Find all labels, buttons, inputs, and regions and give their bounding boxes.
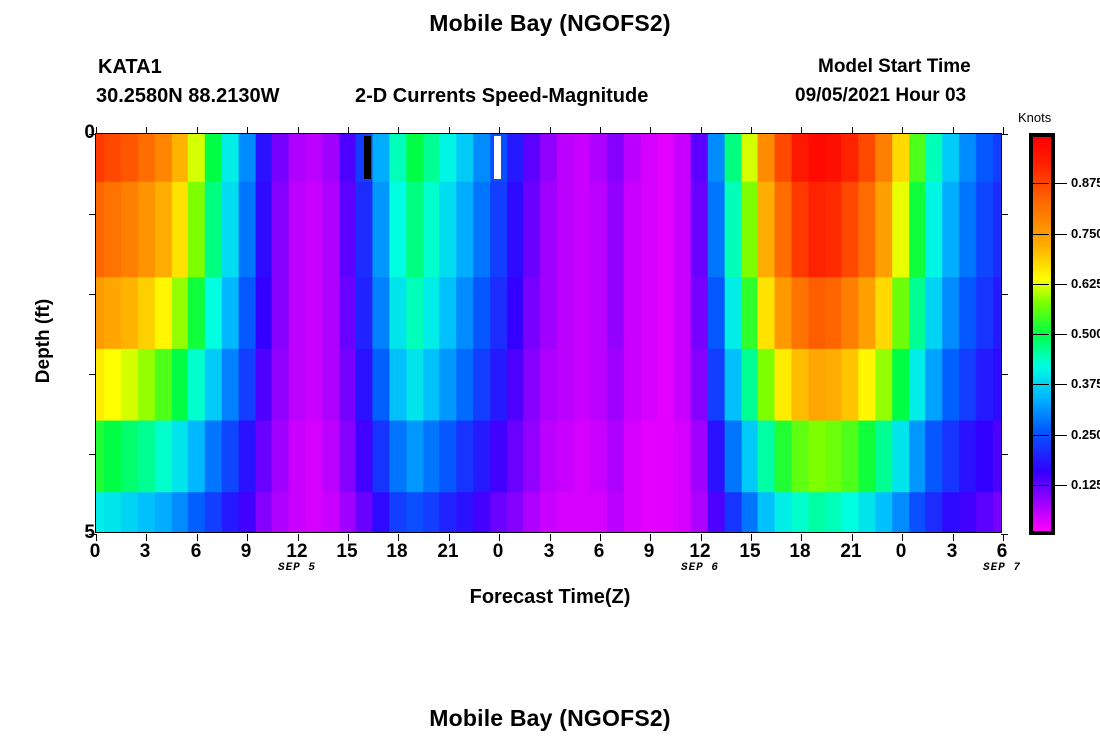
y-axis-tick bbox=[89, 374, 96, 375]
colorbar-tick-label: 0.250 bbox=[1071, 427, 1100, 442]
x-axis-tick bbox=[953, 534, 954, 541]
colorbar-tick-label: 0.375 bbox=[1071, 376, 1100, 391]
x-axis-tick bbox=[902, 534, 903, 541]
x-axis-tick-top bbox=[550, 127, 551, 134]
black-marker bbox=[364, 136, 371, 179]
x-axis-tick-top bbox=[146, 127, 147, 134]
colorbar-tick-inner bbox=[1031, 183, 1049, 184]
x-axis-tick bbox=[801, 534, 802, 541]
plot-subtitle: 2-D Currents Speed-Magnitude bbox=[355, 85, 648, 108]
bottom-title: Mobile Bay (NGOFS2) bbox=[0, 705, 1100, 732]
x-axis-tick-top bbox=[852, 127, 853, 134]
x-tick-label: 21 bbox=[831, 541, 871, 563]
x-axis-tick bbox=[146, 534, 147, 541]
x-axis-tick bbox=[701, 534, 702, 541]
y-axis-title: Depth (ft) bbox=[33, 281, 55, 401]
x-axis-tick bbox=[398, 534, 399, 541]
x-axis-tick bbox=[499, 534, 500, 541]
y-axis-tick-right bbox=[1001, 374, 1008, 375]
x-axis-tick bbox=[600, 534, 601, 541]
x-axis-tick bbox=[449, 534, 450, 541]
colorbar-tick bbox=[1055, 284, 1067, 285]
y-axis-tick-right bbox=[1001, 294, 1008, 295]
page-title: Mobile Bay (NGOFS2) bbox=[0, 10, 1100, 37]
x-axis-tick-top bbox=[348, 127, 349, 134]
x-tick-label: 9 bbox=[629, 541, 669, 563]
x-axis-tick-top bbox=[449, 127, 450, 134]
x-axis-tick bbox=[650, 534, 651, 541]
y-axis-tick-right bbox=[1001, 134, 1008, 135]
x-tick-label: 6 bbox=[579, 541, 619, 563]
colorbar-tick bbox=[1055, 384, 1067, 385]
y-axis-tick bbox=[89, 214, 96, 215]
station-name: KATA1 bbox=[98, 56, 162, 79]
x-axis-tick-top bbox=[197, 127, 198, 134]
x-axis-tick-top bbox=[298, 127, 299, 134]
colorbar: 0.8750.7500.6250.5000.3750.2500.125 bbox=[1029, 133, 1055, 535]
colorbar-tick bbox=[1055, 183, 1067, 184]
x-axis-date-label: SEP 7 bbox=[942, 562, 1062, 574]
colorbar-tick bbox=[1055, 234, 1067, 235]
x-tick-label: 6 bbox=[982, 541, 1022, 563]
x-tick-label: 0 bbox=[75, 541, 115, 563]
x-axis-tick bbox=[852, 534, 853, 541]
colorbar-tick-inner bbox=[1031, 284, 1049, 285]
x-tick-label: 15 bbox=[730, 541, 770, 563]
x-tick-label: 18 bbox=[780, 541, 820, 563]
x-tick-label: 3 bbox=[125, 541, 165, 563]
x-axis-tick-top bbox=[902, 127, 903, 134]
x-tick-label: 3 bbox=[529, 541, 569, 563]
x-tick-label: 12 bbox=[680, 541, 720, 563]
x-tick-label: 6 bbox=[176, 541, 216, 563]
x-axis-tick-top bbox=[1003, 127, 1004, 134]
heatmap-canvas bbox=[96, 134, 1001, 532]
x-axis-tick bbox=[348, 534, 349, 541]
y-axis-tick-right bbox=[1001, 534, 1008, 535]
x-axis-tick bbox=[298, 534, 299, 541]
y-axis-tick-right bbox=[1001, 214, 1008, 215]
colorbar-tick bbox=[1055, 485, 1067, 486]
model-start-time-value: 09/05/2021 Hour 03 bbox=[795, 85, 966, 107]
x-axis-tick-top bbox=[650, 127, 651, 134]
colorbar-tick-inner bbox=[1031, 234, 1049, 235]
colorbar-tick bbox=[1055, 435, 1067, 436]
x-axis-tick-top bbox=[398, 127, 399, 134]
colorbar-tick-label: 0.875 bbox=[1071, 175, 1100, 190]
x-axis-tick bbox=[751, 534, 752, 541]
colorbar-title: Knots bbox=[1018, 110, 1051, 125]
x-axis-tick bbox=[197, 534, 198, 541]
colorbar-tick bbox=[1055, 334, 1067, 335]
heatmap-plot-area bbox=[95, 133, 1002, 533]
x-tick-label: 3 bbox=[932, 541, 972, 563]
y-tick-label: 0 bbox=[65, 122, 95, 144]
colorbar-tick-label: 0.125 bbox=[1071, 477, 1100, 492]
x-axis-tick bbox=[247, 534, 248, 541]
x-tick-label: 15 bbox=[327, 541, 367, 563]
y-axis-tick bbox=[89, 294, 96, 295]
x-axis-date-label: SEP 6 bbox=[640, 562, 760, 574]
x-axis-tick bbox=[550, 534, 551, 541]
x-tick-label: 18 bbox=[377, 541, 417, 563]
colorbar-tick-inner bbox=[1031, 485, 1049, 486]
y-axis-tick-right bbox=[1001, 454, 1008, 455]
colorbar-tick-label: 0.625 bbox=[1071, 276, 1100, 291]
x-tick-label: 0 bbox=[478, 541, 518, 563]
colorbar-tick-inner bbox=[1031, 334, 1049, 335]
model-start-time-label: Model Start Time bbox=[818, 56, 971, 78]
x-tick-label: 0 bbox=[881, 541, 921, 563]
y-axis-tick bbox=[89, 454, 96, 455]
x-axis-tick-top bbox=[600, 127, 601, 134]
x-tick-label: 12 bbox=[277, 541, 317, 563]
station-coordinates: 30.2580N 88.2130W bbox=[96, 85, 279, 108]
x-axis-tick bbox=[96, 534, 97, 541]
x-axis-tick-top bbox=[751, 127, 752, 134]
colorbar-tick-label: 0.750 bbox=[1071, 226, 1100, 241]
colorbar-tick-inner bbox=[1031, 384, 1049, 385]
x-axis-date-label: SEP 5 bbox=[237, 562, 357, 574]
x-axis-tick-top bbox=[247, 127, 248, 134]
x-tick-label: 9 bbox=[226, 541, 266, 563]
x-axis-tick-top bbox=[96, 127, 97, 134]
x-tick-label: 21 bbox=[428, 541, 468, 563]
colorbar-tick-label: 0.500 bbox=[1071, 326, 1100, 341]
x-axis-tick-top bbox=[801, 127, 802, 134]
x-axis-tick-top bbox=[953, 127, 954, 134]
x-axis-tick bbox=[1003, 534, 1004, 541]
x-axis-tick-top bbox=[701, 127, 702, 134]
colorbar-tick-inner bbox=[1031, 435, 1049, 436]
y-tick-label: 5 bbox=[65, 522, 95, 544]
x-axis-title: Forecast Time(Z) bbox=[0, 586, 1100, 609]
white-marker bbox=[494, 136, 501, 179]
x-axis-tick-top bbox=[499, 127, 500, 134]
